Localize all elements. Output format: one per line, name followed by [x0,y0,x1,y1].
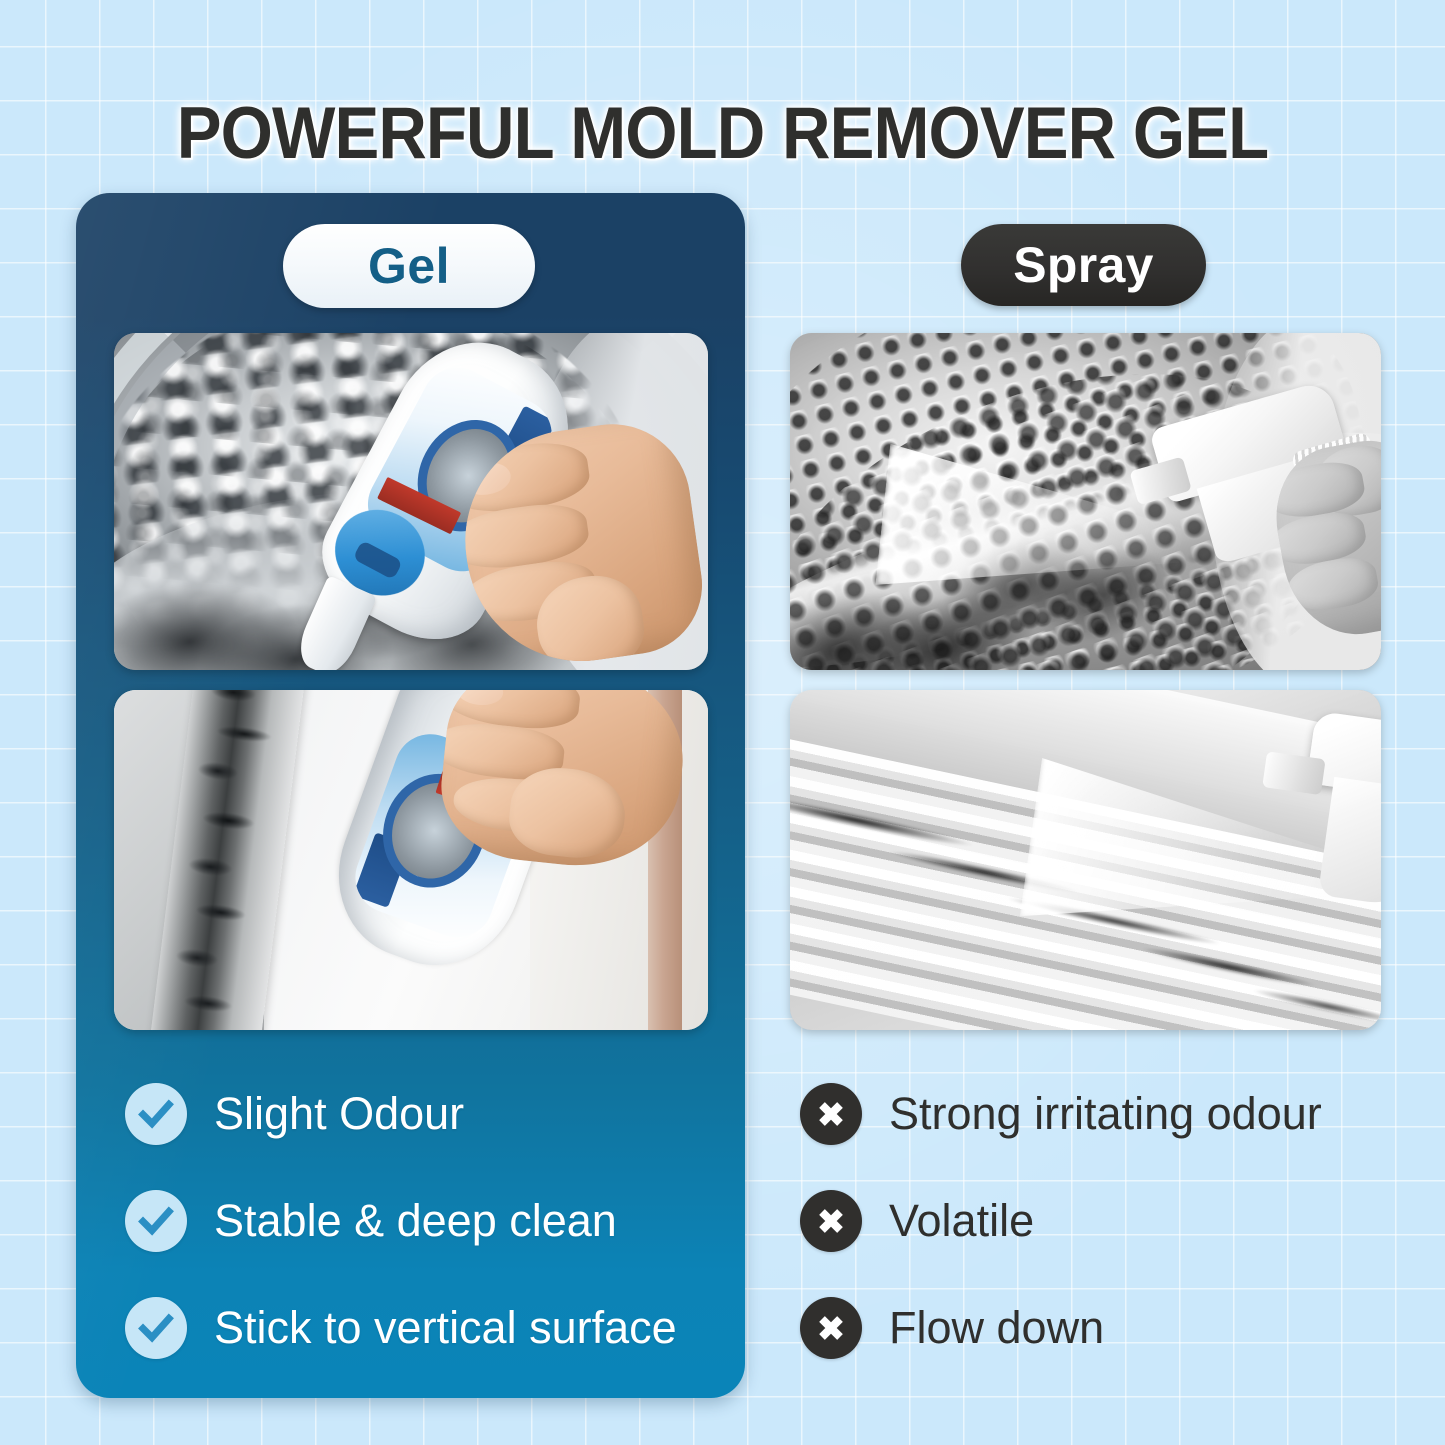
gel-feature-list: Slight Odour Stable & deep clean Stick t… [125,1060,745,1381]
list-item: Strong irritating odour [800,1060,1400,1167]
list-item-label: Strong irritating odour [889,1091,1322,1136]
list-item-label: Stick to vertical surface [214,1305,677,1350]
photo-gel-bottle-on-washer-drum [114,333,708,670]
hand [434,690,692,876]
check-icon [125,1083,187,1145]
spray-badge: Spray [961,224,1206,306]
gel-badge: Gel [283,224,535,308]
list-item: Stick to vertical surface [125,1274,745,1381]
gel-badge-label: Gel [368,237,450,295]
hand [451,414,708,670]
list-item: Slight Odour [125,1060,745,1167]
check-icon [125,1190,187,1252]
photo-spray-bottle-on-door-seal [790,690,1381,1030]
list-item-label: Volatile [889,1198,1034,1243]
photo-spray-bottle-on-washer-drum [790,333,1381,670]
cross-icon [800,1083,862,1145]
photo-gel-bottle-on-door-seal [114,690,708,1030]
list-item: Volatile [800,1167,1400,1274]
spray-badge-label: Spray [1013,236,1153,294]
page-title: POWERFUL MOLD REMOVER GEL [58,97,1387,170]
spray-trigger [1318,776,1381,909]
list-item-label: Stable & deep clean [214,1198,617,1243]
list-item-label: Flow down [889,1305,1104,1350]
spray-nozzle [1262,751,1326,795]
list-item: Stable & deep clean [125,1167,745,1274]
cross-icon [800,1297,862,1359]
list-item-label: Slight Odour [214,1091,464,1136]
check-icon [125,1297,187,1359]
list-item: Flow down [800,1274,1400,1381]
spray-feature-list: Strong irritating odour Volatile Flow do… [800,1060,1400,1381]
cross-icon [800,1190,862,1252]
